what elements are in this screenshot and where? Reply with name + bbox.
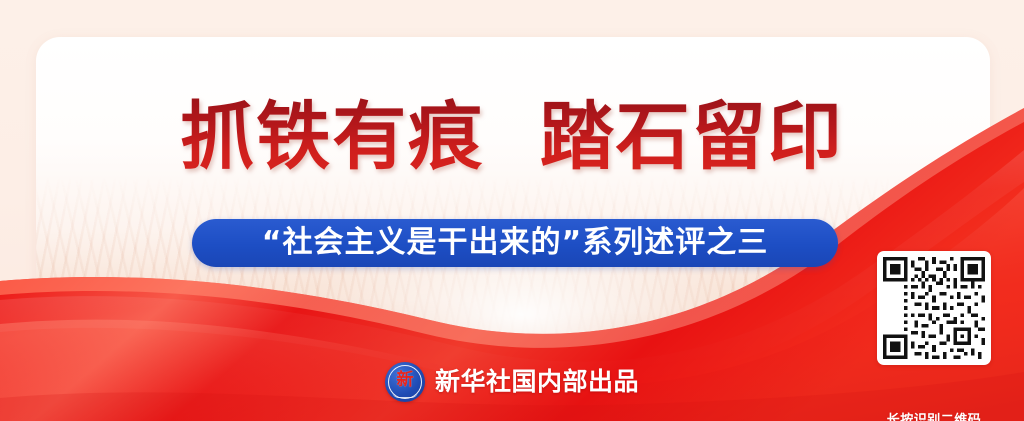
subtitle-text: “社会主义是干出来的”系列述评之三 bbox=[262, 228, 768, 258]
xinhua-news-agency-logo-icon: 新 bbox=[385, 362, 425, 402]
page-title: 抓铁有痕 踏石留印 bbox=[0, 97, 1024, 177]
subtitle-banner: “社会主义是干出来的”系列述评之三 bbox=[192, 219, 838, 267]
poster-banner: 抓铁有痕 踏石留印 “社会主义是干出来的”系列述评之三 新 新华社国内部出品 bbox=[0, 0, 1024, 421]
credit-text: 新华社国内部出品 bbox=[435, 368, 639, 396]
qr-caption: 长按识别二维码 阅读全文 bbox=[887, 373, 982, 421]
logo-arc bbox=[392, 391, 418, 398]
content-card bbox=[36, 37, 990, 384]
qr-block[interactable]: 长按识别二维码 阅读全文 bbox=[874, 251, 994, 421]
credit-line: 新 新华社国内部出品 bbox=[0, 362, 1024, 402]
qr-caption-line1: 长按识别二维码 bbox=[887, 411, 982, 421]
qr-code-icon[interactable] bbox=[877, 251, 991, 365]
